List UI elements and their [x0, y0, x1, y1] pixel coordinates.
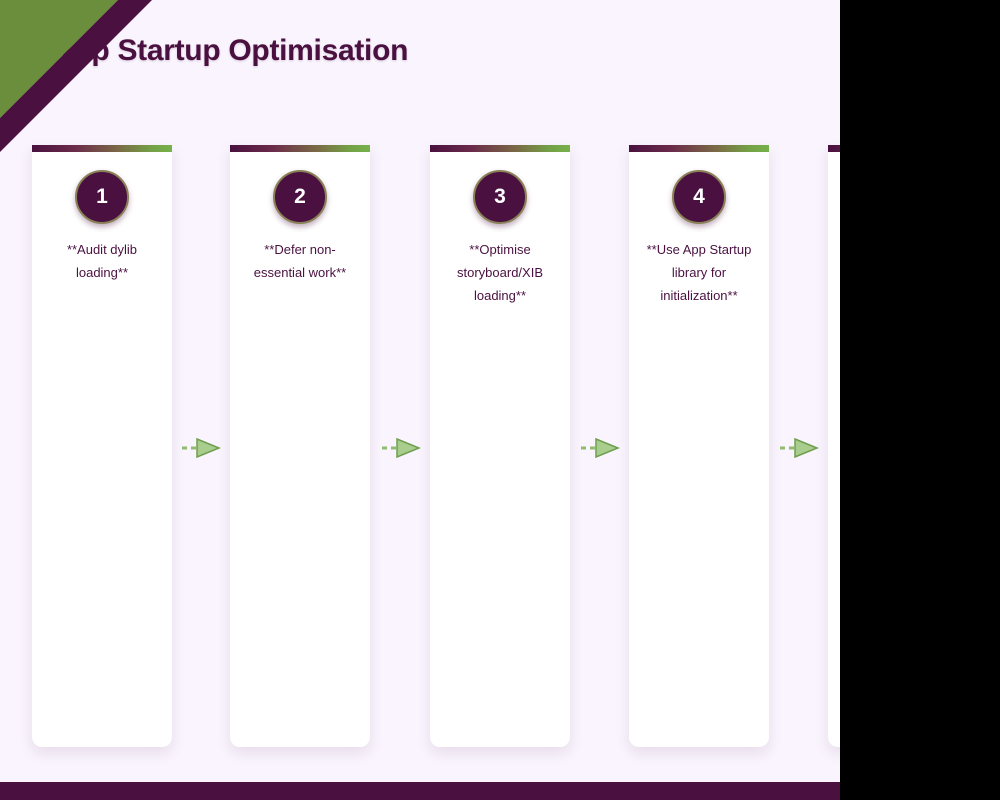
arrow-1-to-2 — [181, 436, 223, 460]
step-label: **Defer non-essential work** — [240, 239, 360, 285]
card-body: 1 **Audit dylib loading** — [32, 152, 172, 285]
step-card-3[interactable]: 3 **Optimise storyboard/XIB loading** — [430, 145, 570, 747]
arrow-2-to-3 — [381, 436, 423, 460]
step-card-4[interactable]: 4 **Use App Startup library for initiali… — [629, 145, 769, 747]
card-body: 3 **Optimise storyboard/XIB loading** — [430, 152, 570, 307]
step-label: **Use App Startup library for initializa… — [639, 239, 759, 307]
step-number-badge: 2 — [273, 170, 327, 224]
arrow-3-to-4 — [580, 436, 622, 460]
card-accent-bar — [430, 145, 570, 152]
card-accent-bar — [629, 145, 769, 152]
slide-canvas: App Startup Optimisation 1 **Audit dylib… — [0, 0, 1000, 800]
step-number-badge: 4 — [672, 170, 726, 224]
arrow-4-to-5 — [779, 436, 821, 460]
page-title: App Startup Optimisation — [52, 34, 408, 68]
card-body: 2 **Defer non-essential work** — [230, 152, 370, 285]
card-accent-bar — [32, 145, 172, 152]
step-card-1[interactable]: 1 **Audit dylib loading** — [32, 145, 172, 747]
step-card-2[interactable]: 2 **Defer non-essential work** — [230, 145, 370, 747]
step-label: **Audit dylib loading** — [42, 239, 162, 285]
step-label: **Optimise storyboard/XIB loading** — [440, 239, 560, 307]
step-number-badge: 1 — [75, 170, 129, 224]
card-accent-bar — [230, 145, 370, 152]
right-occluder-panel — [840, 0, 1000, 800]
card-body: 4 **Use App Startup library for initiali… — [629, 152, 769, 307]
step-number-badge: 3 — [473, 170, 527, 224]
corner-purple-band — [0, 0, 152, 152]
